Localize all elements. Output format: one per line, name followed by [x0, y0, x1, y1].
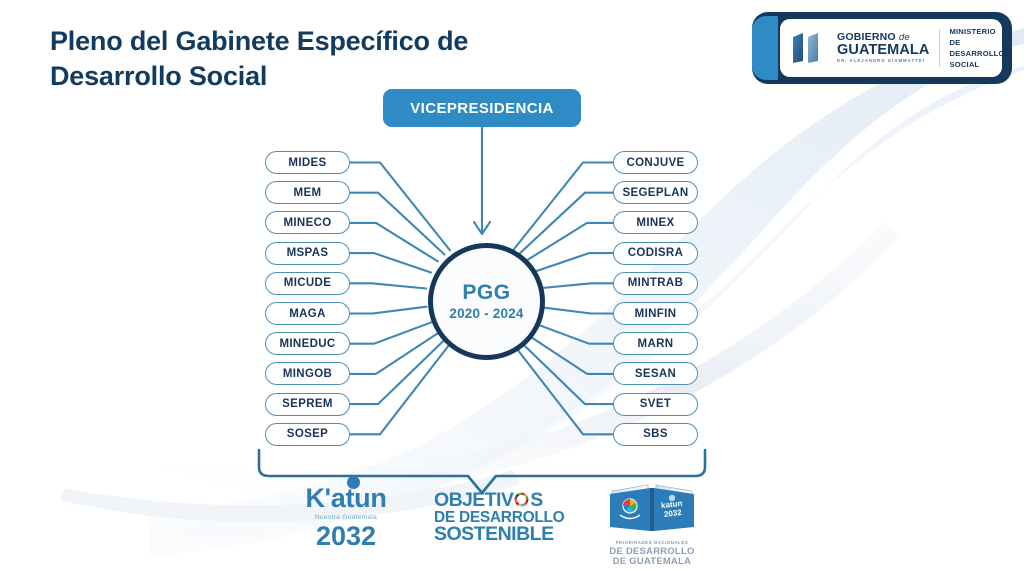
open-book-icon: katun 2032 [606, 483, 698, 535]
connector-right-mintrab [537, 283, 613, 288]
ministry-label: MINISTERIO DE DESARROLLO SOCIAL [949, 26, 1004, 70]
entity-pill-label: SVET [640, 398, 671, 410]
pgg-acronym: PGG [462, 282, 510, 303]
entity-pill-mides[interactable]: MIDES [265, 151, 350, 174]
entity-pill-label: SBS [643, 428, 668, 440]
entity-pill-sosep[interactable]: SOSEP [265, 423, 350, 446]
entity-pill-mineduc[interactable]: MINEDUC [265, 332, 350, 355]
connector-left-mineduc [350, 322, 432, 344]
logo-line-president: DR. ALEJANDRO GIAMMATTEI [837, 58, 929, 64]
slide-canvas: Pleno del Gabinete Específico de Desarro… [0, 0, 1024, 570]
entity-pill-mineco[interactable]: MINECO [265, 211, 350, 234]
entity-pill-label: SOSEP [287, 428, 328, 440]
guatemala-emblem-icon [790, 31, 830, 65]
ministry-line-3: SOCIAL [949, 59, 1004, 70]
connector-left-mingob [350, 333, 439, 374]
entity-pill-label: MICUDE [284, 277, 331, 289]
prioridades-line-3: DE GUATEMALA [600, 556, 704, 567]
page-title: Pleno del Gabinete Específico de Desarro… [50, 24, 570, 94]
vicepresidencia-node[interactable]: VICEPRESIDENCIA [383, 89, 581, 127]
entity-pill-label: SESAN [635, 368, 676, 380]
connector-left-mspas [350, 253, 431, 272]
page-title-line-1: Pleno del Gabinete Específico de [50, 24, 570, 59]
katun-wordmark: K'atun [300, 485, 392, 512]
katun-year: 2032 [300, 523, 392, 550]
entity-pill-label: MEM [294, 187, 322, 199]
entity-pill-sbs[interactable]: SBS [613, 423, 698, 446]
entity-pill-label: CODISRA [628, 247, 683, 259]
connector-right-minfin [537, 307, 613, 314]
entity-pill-label: MINECO [283, 217, 331, 229]
sdg-wheel-icon [513, 491, 530, 508]
logo-inner-panel: GOBIERNO de GUATEMALA DR. ALEJANDRO GIAM… [780, 19, 1002, 77]
footer-logo-row: K'atun Nuestra Guatemala 2032 OBJETIVS D… [0, 483, 1024, 563]
connector-left-mineco [350, 223, 438, 262]
katun-dot-icon [347, 476, 360, 489]
connector-right-svet [518, 339, 613, 404]
entity-pill-label: MIDES [288, 157, 326, 169]
katun-2032-logo: K'atun Nuestra Guatemala 2032 [300, 485, 392, 550]
connector-left-seprem [350, 339, 445, 404]
connector-right-marn [531, 322, 613, 344]
ministry-line-2: DESARROLLO [949, 48, 1004, 59]
entity-pill-maga[interactable]: MAGA [265, 302, 350, 325]
prioridades-nacionales-logo: katun 2032 PRIORIDADES NACIONALES DE DES… [600, 483, 704, 567]
pgg-period: 2020 - 2024 [449, 307, 523, 321]
entity-pill-conjuve[interactable]: CONJUVE [613, 151, 698, 174]
entity-pill-minex[interactable]: MINEX [613, 211, 698, 234]
ministry-line-1: MINISTERIO DE [949, 26, 1004, 48]
katun-word-text: K'atun [305, 483, 386, 513]
ods-logo: OBJETIVS DE DESARROLLO SOSTENIBLE [434, 491, 554, 545]
logo-wordmark: GOBIERNO de GUATEMALA DR. ALEJANDRO GIAM… [837, 32, 929, 64]
entity-pill-segeplan[interactable]: SEGEPLAN [613, 181, 698, 204]
vicepresidencia-arrow [474, 127, 490, 234]
logo-line-guatemala: GUATEMALA [837, 43, 929, 58]
logo-divider [939, 29, 940, 67]
entity-pill-minfin[interactable]: MINFIN [613, 302, 698, 325]
entity-pill-label: SEPREM [282, 398, 333, 410]
connector-right-codisra [532, 253, 613, 272]
entity-pill-label: MINGOB [283, 368, 332, 380]
entity-pill-codisra[interactable]: CODISRA [613, 242, 698, 265]
government-logo-badge: GOBIERNO de GUATEMALA DR. ALEJANDRO GIAM… [752, 12, 1012, 84]
entity-pill-label: MSPAS [287, 247, 329, 259]
entity-pill-mintrab[interactable]: MINTRAB [613, 272, 698, 295]
entity-pill-svet[interactable]: SVET [613, 393, 698, 416]
connector-left-maga [350, 307, 426, 314]
entity-pill-seprem[interactable]: SEPREM [265, 393, 350, 416]
ods-line-3: SOSTENIBLE [434, 525, 554, 545]
pgg-center-node[interactable]: PGG 2020 - 2024 [428, 243, 545, 360]
logo-accent-bar [752, 16, 778, 80]
connector-right-sesan [524, 333, 613, 374]
entity-pill-sesan[interactable]: SESAN [613, 362, 698, 385]
entity-pill-label: MINTRAB [628, 277, 683, 289]
entity-pill-label: MAGA [289, 308, 326, 320]
entity-pill-mem[interactable]: MEM [265, 181, 350, 204]
entity-pill-mingob[interactable]: MINGOB [265, 362, 350, 385]
entity-pill-label: MINEDUC [279, 338, 335, 350]
entity-pill-label: SEGEPLAN [622, 187, 688, 199]
entity-pill-label: MINFIN [635, 308, 677, 320]
entity-pill-label: MARN [638, 338, 674, 350]
connector-right-minex [525, 223, 613, 262]
entity-pill-label: CONJUVE [626, 157, 684, 169]
entity-pill-mspas[interactable]: MSPAS [265, 242, 350, 265]
entity-pill-label: MINEX [636, 217, 674, 229]
entity-pill-marn[interactable]: MARN [613, 332, 698, 355]
katun-subtitle: Nuestra Guatemala [300, 514, 392, 521]
ods-line-1: OBJETIVS [434, 491, 554, 510]
connector-left-micude [350, 283, 426, 288]
entity-pill-micude[interactable]: MICUDE [265, 272, 350, 295]
